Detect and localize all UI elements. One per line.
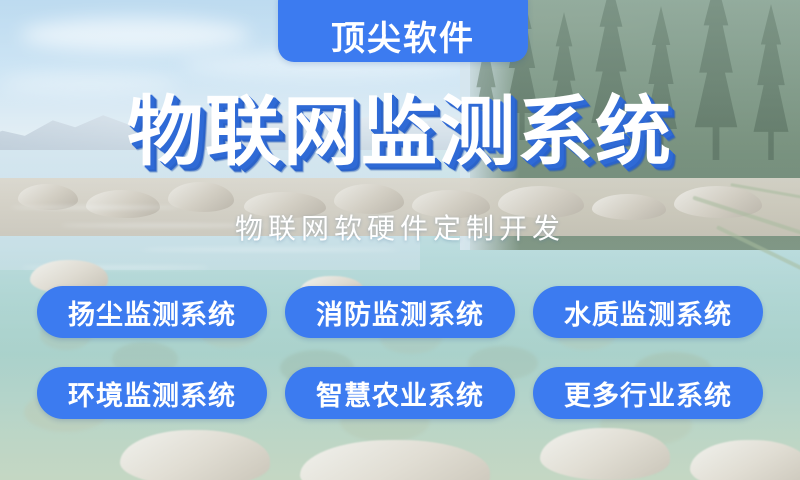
pill-label: 智慧农业系统 xyxy=(316,374,484,413)
system-pill-group: 扬尘监测系统 消防监测系统 水质监测系统 环境监测系统 智慧农业系统 更多行业系… xyxy=(0,286,800,448)
pill-label: 环境监测系统 xyxy=(68,374,236,413)
pill-environment-monitoring[interactable]: 环境监测系统 xyxy=(37,367,267,419)
promo-banner: 顶尖软件 物联网监测系统 物联网软硬件定制开发 扬尘监测系统 消防监测系统 水质… xyxy=(0,0,800,480)
banner-content: 顶尖软件 物联网监测系统 物联网软硬件定制开发 扬尘监测系统 消防监测系统 水质… xyxy=(0,0,800,480)
pill-dust-monitoring[interactable]: 扬尘监测系统 xyxy=(37,286,267,338)
system-pill-row: 扬尘监测系统 消防监测系统 水质监测系统 xyxy=(0,286,800,338)
page-subtitle: 物联网软硬件定制开发 xyxy=(0,207,800,247)
page-title: 物联网监测系统 xyxy=(0,92,800,172)
top-badge: 顶尖软件 xyxy=(278,0,528,62)
pill-water-quality-monitoring[interactable]: 水质监测系统 xyxy=(533,286,763,338)
pill-fire-monitoring[interactable]: 消防监测系统 xyxy=(285,286,515,338)
system-pill-row: 环境监测系统 智慧农业系统 更多行业系统 xyxy=(0,367,800,419)
pill-label: 更多行业系统 xyxy=(564,374,732,413)
top-badge-label: 顶尖软件 xyxy=(331,22,475,56)
pill-label: 消防监测系统 xyxy=(316,293,484,332)
pill-smart-agriculture[interactable]: 智慧农业系统 xyxy=(285,367,515,419)
pill-more-industry-systems[interactable]: 更多行业系统 xyxy=(533,367,763,419)
pill-label: 扬尘监测系统 xyxy=(68,293,236,332)
pill-label: 水质监测系统 xyxy=(564,293,732,332)
